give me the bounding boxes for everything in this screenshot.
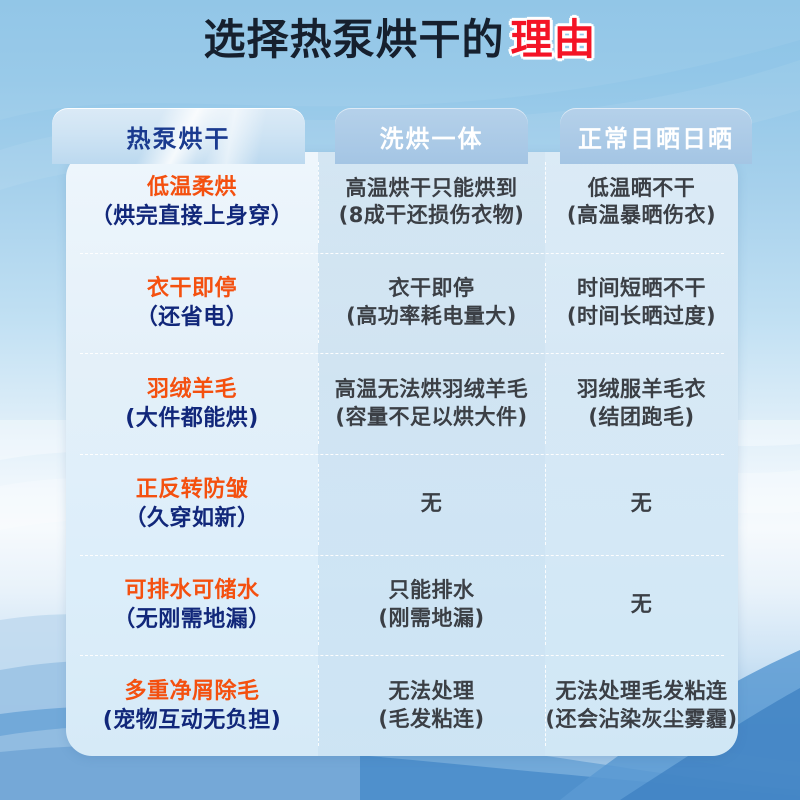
cell-washer-dryer: 无法处理 (毛发粘连) (318, 655, 545, 756)
tab-heatpump-label: 热泵烘干 (127, 119, 231, 154)
cell-line-secondary: (宠物互动无负担) (103, 706, 282, 735)
cell-line-primary: 无 (631, 591, 653, 619)
cell-sun-drying: 无法处理毛发粘连 (还会沾染灰尘雾霾) (545, 655, 738, 756)
cell-line-secondary: (容量不足以烘大件) (335, 404, 527, 432)
tab-sun-drying-label: 正常日晒日晒 (578, 119, 734, 154)
cell-line-primary: 衣干即停 (147, 274, 237, 303)
table-row: 可排水可储水 （无刚需地漏） 只能排水 (刚需地漏) 无 (66, 555, 738, 656)
comparison-table-card: 低温柔烘 （烘完直接上身穿） 高温烘干只能烘到 (8成干还损伤衣物) 低温晒不干… (66, 152, 738, 756)
cell-line-primary: 低温柔烘 (147, 173, 237, 202)
cell-line-primary: 无 (631, 490, 653, 518)
cell-heatpump: 可排水可储水 （无刚需地漏） (66, 555, 318, 656)
cell-heatpump: 多重净屑除毛 (宠物互动无负担) (66, 655, 318, 756)
cell-line-secondary: (高功率耗电量大) (346, 303, 517, 331)
cell-sun-drying: 无 (545, 555, 738, 656)
cell-line-secondary: （无刚需地漏） (113, 605, 271, 634)
table-row: 多重净屑除毛 (宠物互动无负担) 无法处理 (毛发粘连) 无法处理毛发粘连 (还… (66, 655, 738, 756)
cell-line-primary: 多重净屑除毛 (124, 677, 259, 706)
cell-line-secondary: (毛发粘连) (378, 706, 484, 734)
cell-line-primary: 低温晒不干 (588, 175, 696, 203)
page-title-accent: 理由 (511, 15, 597, 64)
cell-washer-dryer: 只能排水 (刚需地漏) (318, 555, 545, 656)
table-row: 羽绒羊毛 (大件都能烘) 高温无法烘羽绒羊毛 (容量不足以烘大件) 羽绒服羊毛衣… (66, 353, 738, 454)
cell-washer-dryer: 高温烘干只能烘到 (8成干还损伤衣物) (318, 152, 545, 253)
cell-line-primary: 时间短晒不干 (577, 275, 706, 303)
table-row: 正反转防皱 （久穿如新） 无 无 (66, 454, 738, 555)
cell-heatpump: 衣干即停 （还省电） (66, 253, 318, 354)
cell-line-primary: 无 (421, 490, 443, 518)
tab-sun-drying[interactable]: 正常日晒日晒 (560, 108, 752, 164)
cell-washer-dryer: 高温无法烘羽绒羊毛 (容量不足以烘大件) (318, 353, 545, 454)
cell-sun-drying: 羽绒服羊毛衣 (结团跑毛) (545, 353, 738, 454)
cell-line-primary: 正反转防皱 (136, 475, 249, 504)
cell-line-secondary: （久穿如新） (124, 504, 259, 533)
cell-line-primary: 羽绒服羊毛衣 (577, 376, 706, 404)
tab-washer-dryer-combo-label: 洗烘一体 (380, 119, 484, 154)
tab-heatpump[interactable]: 热泵烘干 (52, 108, 305, 164)
cell-line-primary: 可排水可储水 (124, 576, 259, 605)
cell-sun-drying: 无 (545, 454, 738, 555)
cell-line-secondary: (时间长晒过度) (567, 303, 716, 331)
cell-line-primary: 高温烘干只能烘到 (346, 175, 518, 203)
cell-line-secondary: （还省电） (136, 303, 249, 332)
table-row: 低温柔烘 （烘完直接上身穿） 高温烘干只能烘到 (8成干还损伤衣物) 低温晒不干… (66, 152, 738, 253)
cell-heatpump: 低温柔烘 （烘完直接上身穿） (66, 152, 318, 253)
cell-washer-dryer: 无 (318, 454, 545, 555)
cell-washer-dryer: 衣干即停 (高功率耗电量大) (318, 253, 545, 354)
cell-line-secondary: (大件都能烘) (125, 404, 259, 433)
cell-line-primary: 羽绒羊毛 (147, 375, 237, 404)
cell-line-primary: 无法处理毛发粘连 (556, 678, 728, 706)
cell-line-secondary: （烘完直接上身穿） (91, 202, 294, 231)
cell-heatpump: 羽绒羊毛 (大件都能烘) (66, 353, 318, 454)
cell-line-secondary: (还会沾染灰尘雾霾) (545, 706, 737, 734)
cell-line-primary: 高温无法烘羽绒羊毛 (335, 376, 529, 404)
comparison-table-body: 低温柔烘 （烘完直接上身穿） 高温烘干只能烘到 (8成干还损伤衣物) 低温晒不干… (66, 152, 738, 756)
page-title-main: 选择热泵烘干的 (203, 15, 504, 64)
cell-line-primary: 只能排水 (389, 577, 475, 605)
cell-sun-drying: 时间短晒不干 (时间长晒过度) (545, 253, 738, 354)
cell-sun-drying: 低温晒不干 (高温暴晒伤衣) (545, 152, 738, 253)
page-title: 选择热泵烘干的理由 (0, 14, 800, 67)
promo-comparison-page: 选择热泵烘干的理由 热泵烘干 洗烘一体 正常日晒日晒 低温柔烘 （烘完直接上身穿… (0, 0, 800, 800)
cell-line-secondary: (结团跑毛) (588, 404, 694, 432)
cell-line-primary: 无法处理 (389, 678, 475, 706)
cell-line-secondary: (8成干还损伤衣物) (339, 202, 525, 230)
cell-line-primary: 衣干即停 (389, 275, 475, 303)
cell-heatpump: 正反转防皱 （久穿如新） (66, 454, 318, 555)
cell-line-secondary: (刚需地漏) (378, 605, 484, 633)
comparison-column-tabs: 热泵烘干 洗烘一体 正常日晒日晒 (52, 108, 752, 164)
cell-line-secondary: (高温暴晒伤衣) (567, 202, 716, 230)
table-row: 衣干即停 （还省电） 衣干即停 (高功率耗电量大) 时间短晒不干 (时间长晒过度… (66, 253, 738, 354)
tab-washer-dryer-combo[interactable]: 洗烘一体 (335, 108, 528, 164)
